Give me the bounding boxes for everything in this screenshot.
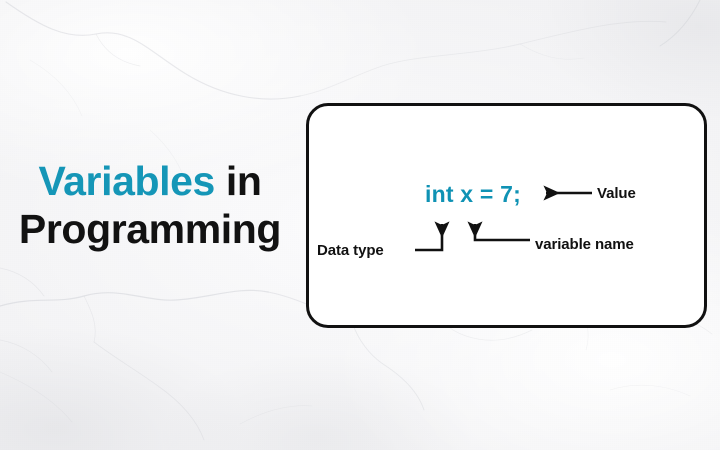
slide-canvas: Variables in Programming int x = 7; Valu… (0, 0, 720, 450)
page-title: Variables in Programming (0, 158, 300, 253)
code-illustration-card: int x = 7; Value variable name Data type (306, 103, 707, 328)
arrow-variable-name (475, 224, 530, 240)
title-line-1: Variables in (0, 158, 300, 206)
arrow-data-type (415, 224, 442, 250)
annotation-label-value: Value (597, 185, 636, 202)
annotation-label-variable-name: variable name (535, 236, 634, 253)
card-content: int x = 7; Value variable name Data type (309, 106, 704, 325)
title-line-2: Programming (0, 206, 300, 254)
code-snippet: int x = 7; (425, 181, 521, 208)
annotation-arrows-group (309, 106, 710, 331)
title-line-1-rest: in (215, 158, 262, 204)
annotation-label-data-type: Data type (317, 242, 384, 259)
title-accent-word: Variables (38, 158, 214, 204)
